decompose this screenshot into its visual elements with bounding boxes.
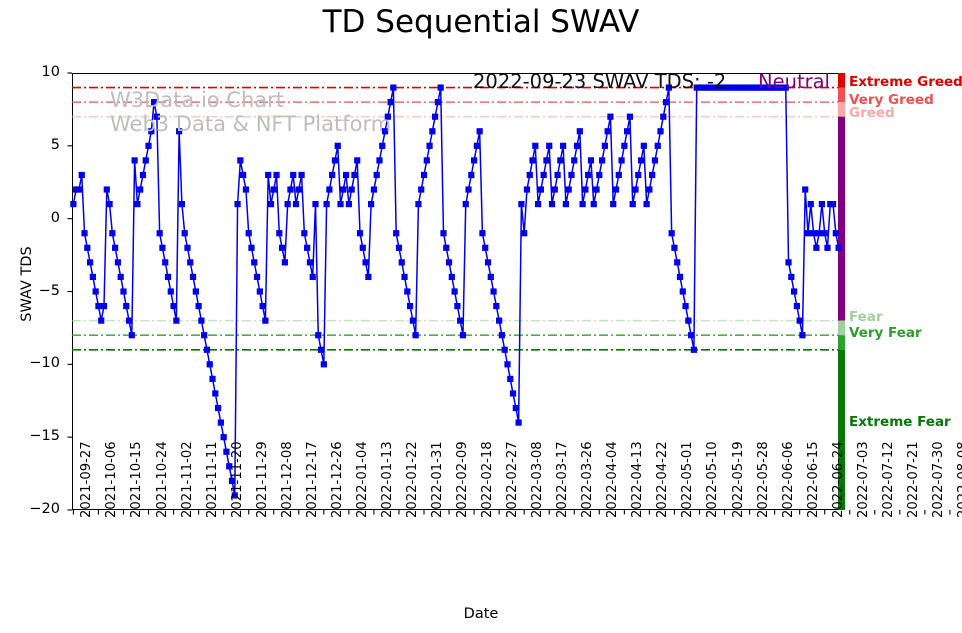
y-tick-label: −10 [20,355,60,371]
x-axis-label: Date [0,606,962,622]
x-tick-label: 2022-07-12 [881,441,896,518]
x-tick-label: 2022-05-19 [731,441,746,518]
x-tick-label: 2022-01-22 [405,441,420,518]
zone-label: Extreme Fear [849,414,951,430]
x-tick-label: 2022-01-04 [355,441,370,518]
zone-label: Greed [849,105,895,121]
y-axis-label: SWAV TDS [19,224,35,344]
x-tick-label: 2021-10-06 [104,441,119,518]
x-tick-label: 2021-11-11 [205,441,220,518]
x-tick-label: 2021-10-15 [129,441,144,518]
x-tick-label: 2021-10-24 [155,441,170,518]
zone-label: Fear [849,309,883,325]
x-tick-label: 2022-02-18 [480,441,495,518]
x-tick-label: 2021-12-17 [305,441,320,518]
x-tick-label: 2022-04-04 [605,441,620,518]
y-tick-label: 5 [20,137,60,153]
x-tick-label: 2022-01-13 [380,441,395,518]
y-tick-label: 10 [20,64,60,80]
chart-root: TD Sequential SWAV 1050−5−10−15−202021-0… [0,0,962,633]
y-tick-label: −15 [20,428,60,444]
annotation-value: 2022-09-23 SWAV TDS: -2 [473,70,726,93]
x-tick-label: 2021-11-20 [230,441,245,518]
zone-label: Extreme Greed [849,74,962,90]
x-tick-label: 2022-07-21 [906,441,921,518]
x-tick-label: 2021-11-29 [255,441,270,518]
x-tick-label: 2022-07-03 [856,441,871,518]
annotation-state: Neutral [758,70,830,93]
x-tick-label: 2022-07-30 [931,441,946,518]
x-tick-label: 2022-06-06 [781,441,796,518]
x-tick-label: 2022-04-22 [655,441,670,518]
x-tick-label: 2021-12-26 [330,441,345,518]
zone-label: Very Fear [849,325,922,341]
x-tick-label: 2022-04-13 [630,441,645,518]
x-tick-label: 2021-12-08 [280,441,295,518]
x-tick-label: 2022-03-26 [580,441,595,518]
x-tick-label: 2022-06-15 [806,441,821,518]
x-tick-label: 2021-09-27 [79,441,94,518]
x-tick-label: 2022-08-08 [956,441,962,518]
y-tick-label: −20 [20,501,60,517]
watermark-line-2: Web3 Data & NFT Platform [110,112,391,136]
x-tick-label: 2022-05-10 [705,441,720,518]
x-tick-label: 2022-02-27 [505,441,520,518]
x-tick-label: 2022-01-31 [430,441,445,518]
watermark-line-1: W3Data.io Chart [110,88,284,112]
x-tick-label: 2021-11-02 [180,441,195,518]
x-tick-label: 2022-03-17 [555,441,570,518]
x-tick-label: 2022-05-01 [680,441,695,518]
x-tick-label: 2022-03-08 [530,441,545,518]
x-tick-label: 2022-02-09 [455,441,470,518]
x-tick-label: 2022-06-24 [831,441,846,518]
x-tick-label: 2022-05-28 [756,441,771,518]
